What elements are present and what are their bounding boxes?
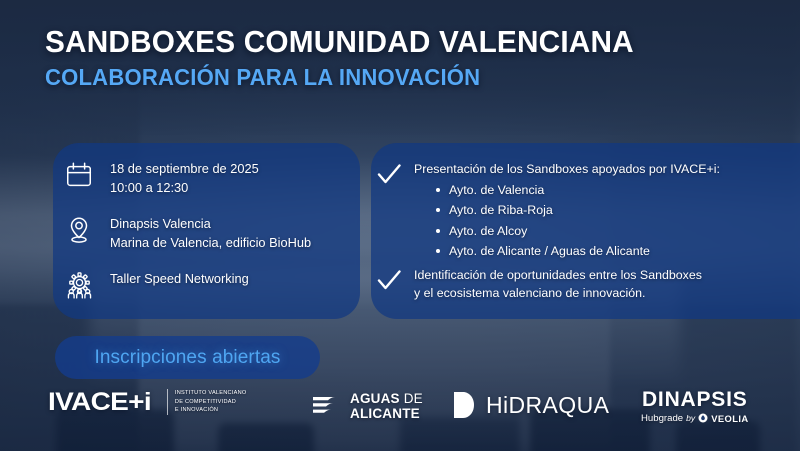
dinapsis-veolia-line: Hubgrade by VEOLIA [641, 413, 749, 424]
dinapsis-hubgrade-label: Hubgrade [641, 413, 683, 424]
venue-line-1: Dinapsis Valencia [110, 216, 211, 231]
ivace-tagline-line-2: DE COMPETITIVIDAD [175, 399, 236, 405]
agenda-item-2-body: Identificación de oportunidades entre lo… [414, 266, 702, 302]
dinapsis-wordmark: DINAPSIS [642, 388, 748, 412]
logo-hidraqua: HiDRAQUA [452, 391, 609, 419]
ivace-divider [167, 389, 168, 415]
veolia-icon [698, 413, 708, 423]
date-line-2: 10:00 a 12:30 [110, 180, 188, 195]
detail-row-venue: Dinapsis Valencia Marina de Valencia, ed… [62, 213, 311, 253]
registration-button[interactable]: Inscripciones abiertas [55, 336, 320, 379]
poster-heading: SANDBOXES COMUNIDAD VALENCIANA COLABORAC… [45, 26, 658, 89]
agenda-item-2-line-1: Identificación de oportunidades entre lo… [414, 268, 702, 282]
ivace-tagline-line-1: INSTITUTO VALENCIANO [175, 390, 247, 396]
detail-row-activity: Taller Speed Networking [62, 268, 249, 302]
date-text: 18 de septiembre de 2025 10:00 a 12:30 [110, 158, 259, 198]
list-item: Ayto. de Riba-Roja [436, 201, 720, 219]
agenda-item-2-line-2: y el ecosistema valenciano de innovación… [414, 286, 645, 300]
event-poster: SANDBOXES COMUNIDAD VALENCIANA COLABORAC… [0, 0, 800, 451]
page-subtitle: COLABORACIÓN PARA LA INNOVACIÓN [45, 65, 634, 89]
checkmark-icon [376, 160, 402, 186]
venue-line-2: Marina de Valencia, edificio BioHub [110, 235, 311, 250]
hidraqua-wordmark: HiDRAQUA [486, 392, 609, 419]
list-item: Ayto. de Alicante / Aguas de Alicante [436, 242, 720, 260]
checkmark-icon [376, 266, 402, 292]
logo-dinapsis: DINAPSIS Hubgrade by VEOLIA [641, 388, 749, 424]
aguas-line-1-light: DE [400, 391, 423, 406]
calendar-icon [62, 158, 96, 192]
ivace-tagline-line-3: E INNOVACIÓN [175, 407, 218, 413]
logo-aguas-de-alicante: AGUAS DE ALICANTE [311, 392, 423, 421]
agenda-item-2: Identificación de oportunidades entre lo… [376, 266, 702, 302]
veolia-wordmark: VEOLIA [711, 413, 748, 424]
registration-button-label: Inscripciones abiertas [95, 347, 281, 369]
activity-text: Taller Speed Networking [110, 268, 249, 288]
list-item: Ayto. de Alcoy [436, 222, 720, 240]
detail-row-date: 18 de septiembre de 2025 10:00 a 12:30 [62, 158, 259, 198]
ivace-tagline: INSTITUTO VALENCIANO DE COMPETITIVIDAD E… [175, 389, 247, 414]
location-pin-icon [62, 213, 96, 247]
logo-ivace: IVACE+i INSTITUTO VALENCIANO DE COMPETIT… [48, 389, 247, 415]
partner-logo-bar: IVACE+i INSTITUTO VALENCIANO DE COMPETIT… [0, 388, 800, 434]
hidraqua-arrow-icon [452, 391, 475, 419]
aguas-line-2: ALICANTE [350, 406, 420, 421]
ivace-wordmark: IVACE+i [48, 390, 151, 415]
networking-gear-icon [62, 268, 96, 302]
date-line-1: 18 de septiembre de 2025 [110, 161, 259, 176]
aguas-line-1-strong: AGUAS [350, 391, 400, 406]
agenda-item-1: Presentación de los Sandboxes apoyados p… [376, 160, 720, 261]
water-waves-icon [311, 394, 341, 420]
dinapsis-by-label: by [686, 413, 695, 423]
venue-text: Dinapsis Valencia Marina de Valencia, ed… [110, 213, 311, 253]
agenda-item-1-body: Presentación de los Sandboxes apoyados p… [414, 160, 720, 261]
page-title: SANDBOXES COMUNIDAD VALENCIANA [45, 26, 634, 58]
aguas-wordmark: AGUAS DE ALICANTE [350, 392, 423, 421]
sandbox-list: Ayto. de Valencia Ayto. de Riba-Roja Ayt… [436, 181, 720, 261]
agenda-item-1-lead: Presentación de los Sandboxes apoyados p… [414, 162, 720, 176]
list-item: Ayto. de Valencia [436, 181, 720, 199]
